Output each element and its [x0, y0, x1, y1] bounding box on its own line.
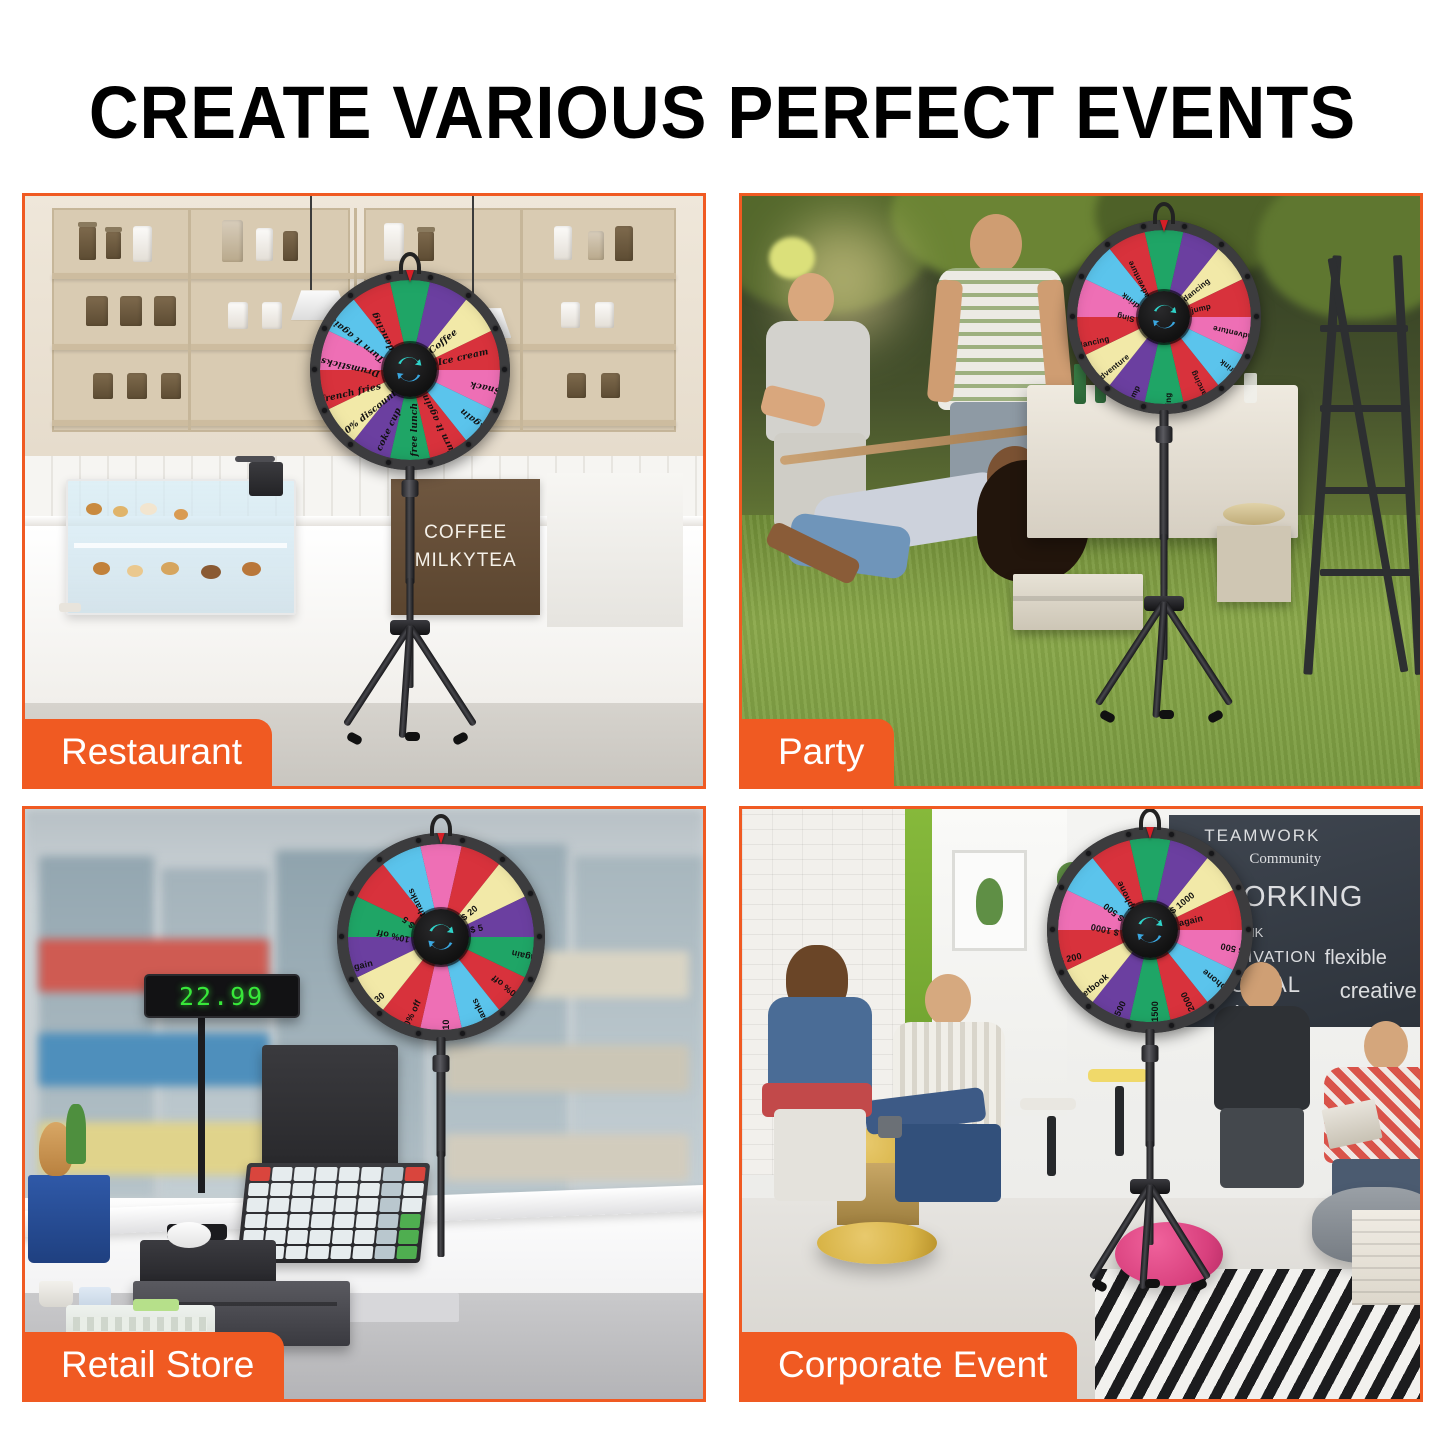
ladder-step [1320, 325, 1408, 332]
rim-bolt [537, 934, 542, 939]
pastry-item [161, 562, 179, 575]
produce-pack [133, 1299, 179, 1311]
spool-base [817, 1222, 937, 1264]
key[interactable] [314, 1183, 336, 1197]
key[interactable] [287, 1230, 309, 1244]
rim-bolt [416, 838, 421, 843]
shelf-jar [601, 373, 620, 398]
rim-bolt [493, 326, 498, 331]
key[interactable] [290, 1198, 312, 1212]
pos-customer-display: 22.99 [144, 974, 300, 1018]
shelf-jar [79, 226, 96, 260]
key[interactable] [338, 1167, 360, 1181]
tripod-foot [1207, 709, 1224, 724]
stand-collar [1142, 1045, 1159, 1062]
prize-wheel-rig-retail[interactable]: $ 1035% off$ 20$ 5again10% offthanks$ 10… [337, 833, 545, 1041]
key[interactable] [311, 1214, 333, 1228]
key[interactable] [309, 1230, 331, 1244]
recycle-arrows-icon [423, 919, 459, 955]
stand-pole-lower [437, 1151, 444, 1257]
rim-bolt [1059, 885, 1064, 890]
key[interactable] [352, 1246, 374, 1260]
rim-bolt [322, 326, 327, 331]
shelf-divider-3 [520, 208, 523, 432]
pastry-item [174, 509, 188, 520]
espresso-top [235, 456, 275, 462]
shelf-jar [120, 296, 142, 326]
ladder-step [1320, 569, 1414, 576]
chalk-word: flexible [1325, 947, 1387, 970]
key[interactable] [249, 1167, 271, 1181]
key[interactable] [248, 1183, 270, 1197]
cactus-artwork [976, 878, 1003, 925]
scene-corporate-event: TEAMWORK Community COWORKING THINK MOTIV… [742, 809, 1420, 1399]
rim-bolt [1209, 1004, 1214, 1009]
recycle-arrows-icon [1132, 912, 1168, 948]
rim-bolt [377, 857, 382, 862]
panel-restaurant[interactable]: COFFEE MILKYTEA CakeFree dinnerCoffeeIce… [22, 193, 706, 789]
pos-display-value: 22.99 [179, 982, 264, 1011]
rim-bolt [1182, 404, 1187, 409]
wheel-hub [1122, 902, 1178, 958]
key[interactable] [267, 1214, 289, 1228]
rim-bolt [502, 367, 507, 372]
pallet-furniture [1352, 1210, 1420, 1304]
person-jeans [895, 1124, 1001, 1202]
key[interactable] [312, 1198, 334, 1212]
shelf-jar [554, 226, 572, 260]
stand-collar [432, 1055, 449, 1072]
badge-retail-store: Retail Store [25, 1332, 284, 1399]
pastry-item [113, 506, 128, 517]
page-title: CREATE VARIOUS PERFECT EVENTS [51, 70, 1395, 155]
person-head [925, 974, 971, 1026]
rim-bolt [348, 293, 353, 298]
pastry-item [86, 503, 102, 515]
rim-bolt [528, 977, 533, 982]
badge-restaurant: Restaurant [25, 719, 272, 786]
espresso-machine [249, 462, 283, 496]
key[interactable] [289, 1214, 311, 1228]
key[interactable] [353, 1230, 375, 1244]
shelf-jar [106, 231, 121, 259]
container [39, 1281, 73, 1307]
wheel-pointer [435, 833, 447, 845]
prize-wheel[interactable]: CakeFree dinnerCoffeeIce creamSnackAgain… [310, 270, 510, 470]
person-head [970, 214, 1022, 274]
product-row [39, 1033, 270, 1086]
rim-bolt [1126, 1023, 1131, 1028]
tripod-stand [1080, 1029, 1220, 1309]
rim-bolt [528, 891, 533, 896]
shelf-jar [588, 231, 604, 260]
rim-bolt [1070, 314, 1075, 319]
key[interactable] [271, 1167, 293, 1181]
key[interactable] [246, 1198, 268, 1212]
rim-bolt [386, 460, 391, 465]
tripod-leg [1162, 600, 1234, 706]
tripod-foot [346, 731, 363, 746]
wheel-hub [1138, 291, 1190, 343]
shelf-jar [262, 302, 282, 329]
shelf-jar [228, 302, 248, 329]
shelf-jar [283, 231, 298, 261]
wheel-hub [413, 909, 469, 965]
rim-bolt [1169, 832, 1174, 837]
key[interactable] [330, 1246, 352, 1260]
shelf-jar [615, 226, 633, 261]
rim-bolt [460, 838, 465, 843]
stool-leg [1047, 1116, 1056, 1176]
stand-collar [401, 480, 418, 497]
key[interactable] [270, 1183, 292, 1197]
key[interactable] [285, 1246, 307, 1260]
step-ladder [1312, 255, 1420, 675]
tripod-foot [1191, 1278, 1208, 1293]
cake-item [242, 562, 261, 576]
tripod-foot [452, 731, 469, 746]
scene-grid: COFFEE MILKYTEA CakeFree dinnerCoffeeIce… [22, 193, 1423, 1412]
pastry-display-case [66, 479, 297, 615]
tripod-foot [1099, 709, 1116, 724]
rim-bolt [1246, 927, 1251, 932]
key[interactable] [335, 1198, 357, 1212]
person-seated-man [891, 974, 1011, 1204]
rim-bolt [386, 275, 391, 280]
person-pants [774, 1109, 866, 1201]
tripod-foot [1159, 710, 1174, 719]
counter-side-panel [547, 473, 683, 626]
ladder-step [1320, 487, 1412, 494]
person-head [788, 273, 834, 325]
prize-wheel-rig-corporate[interactable]: $ 500$ 3000$ 1000again$ 500iphone$ 2000$… [1047, 827, 1253, 1033]
shelf-jar [567, 373, 586, 398]
stand-collar [1156, 426, 1173, 443]
case-shelf [74, 543, 287, 548]
stool-seat [1020, 1098, 1076, 1110]
shelf-jar [154, 296, 176, 326]
rim-bolt [1126, 832, 1131, 837]
rim-bolt [1245, 274, 1250, 279]
tripod-foot [1145, 1279, 1160, 1288]
prize-wheel[interactable]: jumpSingdancingjumpadventuredrinkdancing… [1067, 220, 1261, 414]
panel-corporate-event[interactable]: TEAMWORK Community COWORKING THINK MOTIV… [739, 806, 1423, 1402]
scene-party: jumpSingdancingjumpadventuredrinkdancing… [742, 196, 1420, 786]
rim-bolt [1169, 1023, 1174, 1028]
rim-bolt [1209, 851, 1214, 856]
rim-bolt [1236, 885, 1241, 890]
key[interactable] [244, 1214, 266, 1228]
segment-label: A free lunch [410, 403, 420, 460]
rim-bolt [1245, 354, 1250, 359]
tripod-foot [405, 732, 420, 741]
ladder-step [1320, 405, 1410, 412]
wheel-hub [383, 343, 437, 397]
rim-bolt [312, 367, 317, 372]
segment-label: $ 10 [441, 1019, 451, 1030]
scene-restaurant: COFFEE MILKYTEA CakeFree dinnerCoffeeIce… [25, 196, 703, 786]
tripod-stand [335, 466, 485, 766]
prize-wheel-rig-party[interactable]: jumpSingdancingjumpadventuredrinkdancing… [1067, 220, 1261, 414]
shopping-basket [28, 1175, 109, 1264]
rim-bolt [1050, 927, 1055, 932]
tray [59, 603, 81, 612]
shelf-divider-1 [188, 208, 191, 432]
rim-bolt [1254, 314, 1259, 319]
panel-retail-store[interactable]: 22.99 [22, 806, 706, 1402]
display-pole [198, 1016, 205, 1193]
key[interactable] [294, 1167, 316, 1181]
rim-bolt [348, 442, 353, 447]
key[interactable] [316, 1167, 338, 1181]
coffee-mug [878, 1116, 902, 1138]
pastry-item [127, 565, 143, 577]
key[interactable] [355, 1214, 377, 1228]
cake-item [201, 565, 221, 579]
shelf-jar [222, 220, 243, 262]
segment-label: $ 1500 [1150, 1001, 1160, 1022]
recycle-arrows-icon [392, 352, 427, 387]
person-legs [1220, 1108, 1304, 1188]
wheel-pointer [1144, 827, 1156, 839]
key[interactable] [307, 1246, 329, 1260]
rim-bolt [460, 1031, 465, 1036]
wheel-pointer [1158, 220, 1170, 232]
panel-party[interactable]: jumpSingdancingjumpadventuredrinkdancing… [739, 193, 1423, 789]
tripod-leg [1147, 1183, 1211, 1280]
rim-bolt [500, 857, 505, 862]
rim-bolt [339, 934, 344, 939]
key[interactable] [292, 1183, 314, 1197]
chalk-word: Community [1249, 851, 1321, 868]
tripod-stand [376, 1037, 506, 1257]
rim-bolt [428, 460, 433, 465]
wheel-pointer [404, 270, 416, 282]
shelf-jar [133, 226, 152, 262]
shelf-jar [86, 296, 108, 326]
pastry-item [140, 503, 157, 515]
shelf-jar [127, 373, 147, 399]
shelf-jar [161, 373, 181, 399]
prize-wheel[interactable]: $ 500$ 3000$ 1000again$ 500iphone$ 2000$… [1047, 827, 1253, 1033]
rim-bolt [1105, 386, 1110, 391]
recycle-arrows-icon [1148, 300, 1181, 333]
rim-bolt [1141, 404, 1146, 409]
wall-art-frame [952, 850, 1027, 950]
badge-party: Party [742, 719, 894, 786]
person-standing-woman [762, 951, 880, 1201]
leafy-greens [66, 1104, 86, 1164]
key[interactable] [268, 1198, 290, 1212]
prize-wheel-rig-restaurant[interactable]: CakeFree dinnerCoffeeIce creamSnackAgain… [310, 270, 510, 470]
counter-inset [337, 1293, 459, 1323]
rim-bolt [416, 1031, 421, 1036]
prize-wheel[interactable]: $ 1035% off$ 20$ 5again10% offthanks$ 10… [337, 833, 545, 1041]
shelf-jar [418, 231, 434, 261]
key[interactable] [333, 1214, 355, 1228]
pastry-item [93, 562, 110, 575]
tripod-stand [1089, 410, 1239, 730]
rim-bolt [1105, 242, 1110, 247]
scene-retail-store: 22.99 [25, 809, 703, 1399]
shelf-jar [256, 228, 273, 261]
key[interactable] [331, 1230, 353, 1244]
shelf-jar [561, 302, 580, 328]
chalk-word: creative [1340, 978, 1417, 1004]
tripod-foot [1091, 1278, 1108, 1293]
shelf-jar [595, 302, 614, 328]
key[interactable] [336, 1183, 358, 1197]
rim-bolt [1236, 970, 1241, 975]
segment-label: Sing [1164, 392, 1173, 403]
tripod-leg [407, 624, 477, 727]
person-head [1364, 1021, 1408, 1071]
badge-corporate-event: Corporate Event [742, 1332, 1077, 1399]
shelf-jar [93, 373, 113, 399]
